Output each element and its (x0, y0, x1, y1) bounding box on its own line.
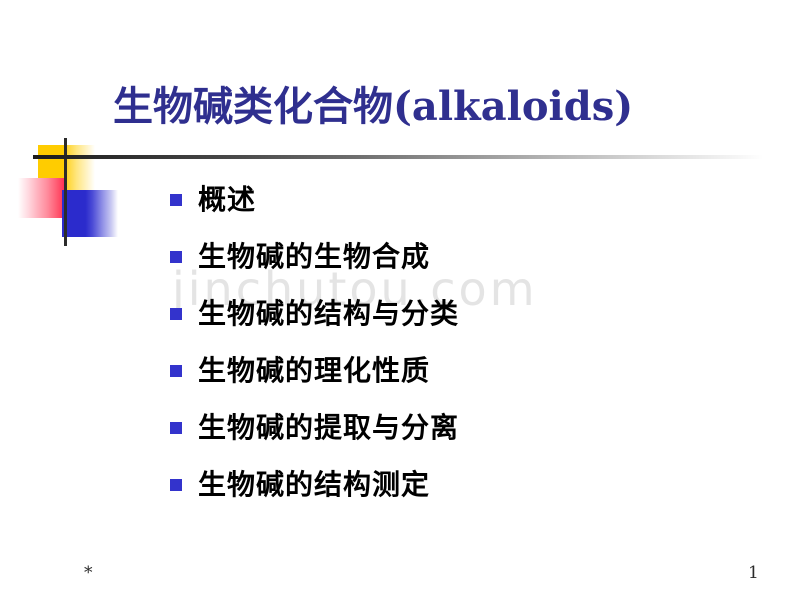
list-item[interactable]: 生物碱的理化性质 (168, 354, 728, 411)
square-bullet-icon (170, 308, 182, 320)
list-item-label: 生物碱的提取与分离 (198, 411, 459, 444)
bullet-list: 概述 生物碱的生物合成 生物碱的结构与分类 生物碱的理化性质 生物碱的提取与分离… (168, 183, 728, 525)
square-bullet-icon (170, 422, 182, 434)
slide-title: 生物碱类化合物(alkaloids) (113, 86, 633, 128)
list-item[interactable]: 生物碱的生物合成 (168, 240, 728, 297)
square-bullet-icon (170, 479, 182, 491)
decor-red-square (18, 178, 64, 218)
decor-blue-square (62, 190, 118, 237)
square-bullet-icon (170, 365, 182, 377)
presentation-slide: 生物碱类化合物(alkaloids) jinchutou.com 概述 生物碱的… (0, 0, 800, 600)
square-bullet-icon (170, 194, 182, 206)
decorative-logo-graphic (0, 60, 180, 200)
list-item-label: 生物碱的生物合成 (198, 240, 430, 273)
list-item-label: 生物碱的结构与分类 (198, 297, 459, 330)
list-item[interactable]: 生物碱的提取与分离 (168, 411, 728, 468)
decor-horizontal-rule (33, 155, 763, 159)
list-item[interactable]: 生物碱的结构测定 (168, 468, 728, 525)
list-item[interactable]: 概述 (168, 183, 728, 240)
list-item-label: 生物碱的结构测定 (198, 468, 430, 501)
slide-page-number: 1 (748, 563, 759, 583)
square-bullet-icon (170, 251, 182, 263)
footer-left-text: * (84, 563, 93, 583)
list-item-label: 生物碱的理化性质 (198, 354, 430, 387)
list-item-label: 概述 (198, 183, 256, 216)
list-item[interactable]: 生物碱的结构与分类 (168, 297, 728, 354)
